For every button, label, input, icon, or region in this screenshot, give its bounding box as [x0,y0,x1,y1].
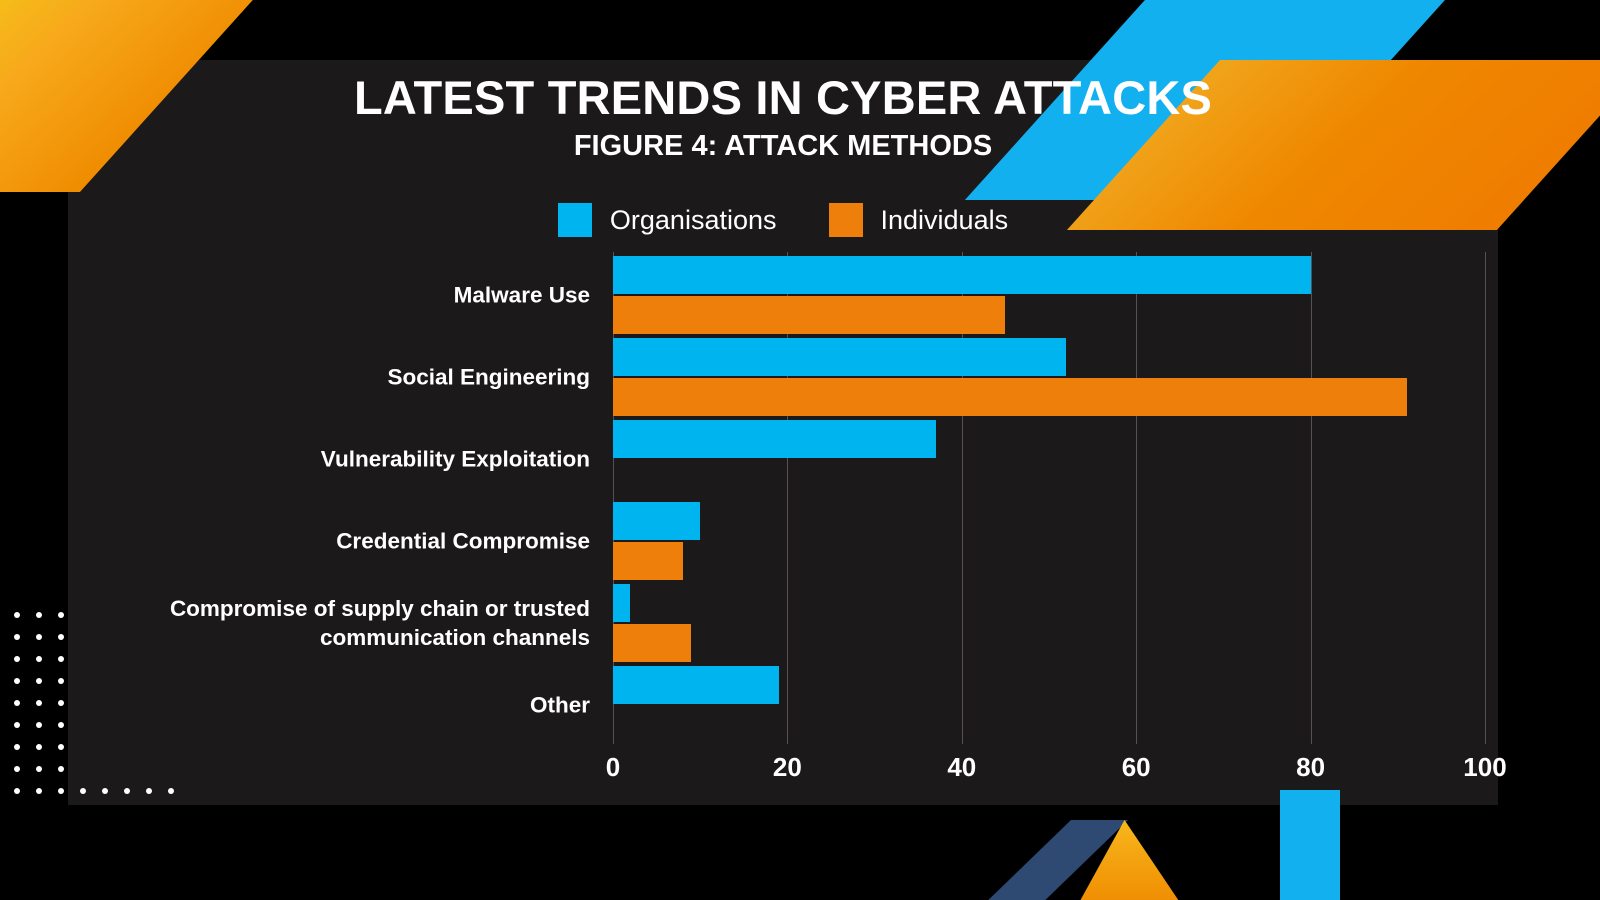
dot [36,678,42,684]
dot [14,678,20,684]
category-axis: Malware UseSocial EngineeringVulnerabili… [90,252,590,744]
x-tick-label: 80 [1296,752,1325,783]
dot [36,788,42,794]
category-label: Vulnerability Exploitation [90,445,590,474]
dot [58,656,64,662]
dot [58,766,64,772]
category-label: Social Engineering [90,363,590,392]
chart-legend: Organisations Individuals [0,203,1566,237]
dot [36,612,42,618]
dot [36,634,42,640]
bar-chart: Malware UseSocial EngineeringVulnerabili… [90,252,1490,752]
legend-item-individuals[interactable]: Individuals [829,203,1009,237]
dot [58,612,64,618]
dot [36,656,42,662]
category-label: Other [90,691,590,720]
x-tick-label: 0 [606,752,620,783]
category-label: Compromise of supply chain or trusted co… [90,594,590,652]
dot [58,634,64,640]
dot [58,744,64,750]
category-label: Credential Compromise [90,527,590,556]
dot [14,700,20,706]
bar-individuals[interactable] [613,296,1005,334]
bar-group [613,584,1485,666]
plot-area [613,252,1485,744]
dot [14,744,20,750]
dot [58,700,64,706]
x-tick-label: 100 [1463,752,1506,783]
bar-group [613,338,1485,420]
decorative-chevron-blue [978,820,1128,900]
dot [14,722,20,728]
bar-individuals[interactable] [613,378,1407,416]
value-axis: 020406080100 [613,752,1485,792]
legend-label-organisations: Organisations [610,205,777,236]
page-subtitle: FIGURE 4: ATTACK METHODS [0,130,1566,163]
dot [36,766,42,772]
dot [36,700,42,706]
legend-swatch-individuals [829,203,863,237]
dot [14,766,20,772]
bar-group [613,666,1485,748]
dot [58,722,64,728]
bar-organisations[interactable] [613,338,1066,376]
bar-individuals[interactable] [613,542,683,580]
category-label: Malware Use [90,281,590,310]
bar-organisations[interactable] [613,502,700,540]
dot [14,788,20,794]
bar-group [613,502,1485,584]
bar-organisations[interactable] [613,666,779,704]
dot [14,612,20,618]
decorative-chevron-orange [1075,820,1185,900]
dot [14,656,20,662]
x-tick-label: 40 [947,752,976,783]
bar-group [613,420,1485,502]
bar-organisations[interactable] [613,584,630,622]
legend-swatch-organisations [558,203,592,237]
dot [58,788,64,794]
legend-label-individuals: Individuals [881,205,1009,236]
bar-group [613,256,1485,338]
dot [58,678,64,684]
x-tick-label: 20 [773,752,802,783]
bar-organisations[interactable] [613,420,936,458]
decorative-square-blue [1280,790,1340,900]
page-title: LATEST TRENDS IN CYBER ATTACKS [0,70,1566,125]
slide-canvas: LATEST TRENDS IN CYBER ATTACKS FIGURE 4:… [0,0,1600,900]
dot [36,744,42,750]
x-tick-label: 60 [1122,752,1151,783]
bar-individuals[interactable] [613,624,691,662]
legend-item-organisations[interactable]: Organisations [558,203,777,237]
bar-organisations[interactable] [613,256,1311,294]
dot [14,634,20,640]
gridline [1485,252,1486,744]
dot [36,722,42,728]
